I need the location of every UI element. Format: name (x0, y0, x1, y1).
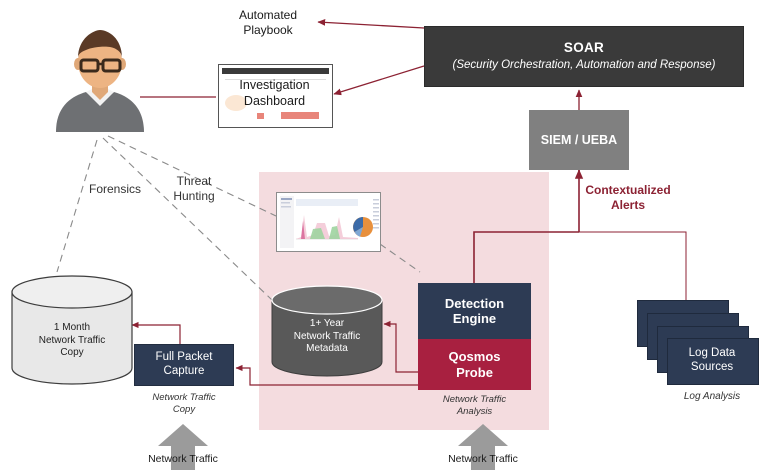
nta-dashboard-thumbnail[interactable] (276, 192, 381, 252)
threat-hunting-label: Threat Hunting (160, 174, 228, 204)
detection-engine-line2: Engine (453, 311, 496, 326)
full-packet-capture-box[interactable]: Full Packet Capture (134, 344, 234, 386)
log-line1: Log Data (689, 347, 736, 361)
log-analysis-caption: Log Analysis (652, 389, 768, 405)
threat-hunting-line2: Hunting (160, 189, 228, 204)
full-packet-capture-caption: Network Traffic Copy (129, 390, 239, 418)
contextualized-alerts-line2: Alerts (573, 198, 683, 213)
copy-cylinder-line2: Network Traffic (39, 335, 106, 348)
copy-cylinder-line1: 1 Month (54, 322, 90, 335)
metadata-cylinder-line3: Metadata (306, 343, 348, 356)
connector-soar-to-dashboard (334, 66, 424, 94)
person-avatar-icon (48, 22, 152, 132)
nta-dashboard-chart-icon (277, 193, 380, 251)
network-traffic-right-label: Network Traffic (431, 453, 535, 466)
nta-caption-line1: Network Traffic (443, 394, 506, 406)
siem-ueba-box[interactable]: SIEM / UEBA (529, 110, 629, 170)
connector-forensics-dashed (57, 140, 97, 272)
connector-logs-to-alerts (579, 232, 686, 300)
fpc-line1: Full Packet (156, 351, 213, 365)
automated-playbook-line2: Playbook (218, 23, 318, 38)
connector-soar-to-playbook (318, 22, 424, 28)
metadata-cylinder-label: 1+ Year Network Traffic Metadata (272, 311, 382, 363)
qosmos-probe-box[interactable]: Qosmos Probe (418, 339, 531, 390)
soar-box[interactable]: SOAR (Security Orchestration, Automation… (424, 26, 744, 87)
network-traffic-analysis-caption: Network Traffic Analysis (418, 392, 531, 420)
fpc-caption-line2: Copy (173, 404, 195, 416)
automated-playbook-label: Automated Playbook (218, 8, 318, 38)
fpc-line2: Capture (164, 365, 205, 379)
nta-caption-line2: Analysis (457, 406, 492, 418)
log-data-sources-label: Log Data Sources (667, 338, 757, 383)
soar-subtitle: (Security Orchestration, Automation and … (453, 59, 716, 73)
threat-hunting-line1: Threat (160, 174, 228, 189)
qosmos-probe-line1: Qosmos (448, 349, 500, 364)
forensics-label: Forensics (77, 182, 153, 197)
detection-engine-box[interactable]: Detection Engine (418, 283, 531, 339)
dashboard-line1: Investigation (239, 78, 309, 94)
network-traffic-left-label: Network Traffic (131, 453, 235, 466)
contextualized-alerts-line1: Contextualized (573, 183, 683, 198)
connector-fpc-to-copy-store (132, 325, 180, 344)
diagram-canvas: SOAR (Security Orchestration, Automation… (0, 0, 768, 476)
fpc-caption-line1: Network Traffic (152, 392, 215, 404)
investigation-dashboard-label: Investigation Dashboard (218, 70, 331, 118)
copy-cylinder-line3: Copy (60, 347, 83, 360)
metadata-cylinder-line2: Network Traffic (294, 331, 361, 344)
dashboard-line2: Dashboard (244, 94, 305, 110)
automated-playbook-line1: Automated (218, 8, 318, 23)
siem-label: SIEM / UEBA (541, 133, 617, 148)
soar-title: SOAR (564, 40, 604, 56)
metadata-cylinder-line1: 1+ Year (310, 318, 344, 331)
detection-engine-line1: Detection (445, 296, 504, 311)
copy-cylinder-label: 1 Month Network Traffic Copy (12, 315, 132, 367)
qosmos-probe-line2: Probe (456, 365, 493, 380)
connector-threat-hunting-dashed (103, 138, 272, 300)
log-line2: Sources (691, 361, 733, 375)
contextualized-alerts-label: Contextualized Alerts (573, 183, 683, 212)
